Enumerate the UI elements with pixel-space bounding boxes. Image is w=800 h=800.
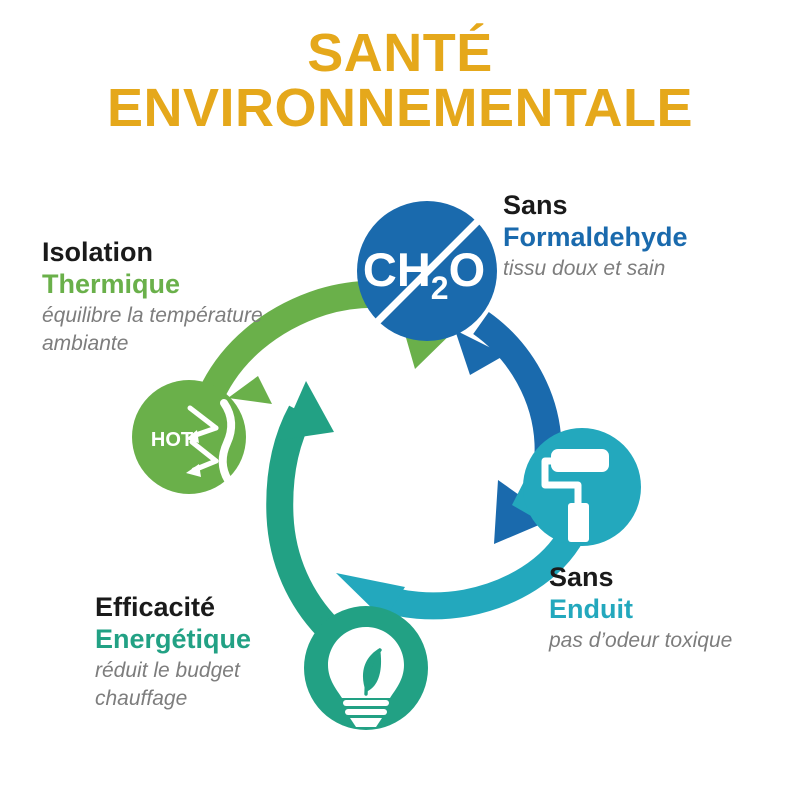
node-enduit[interactable]	[512, 428, 641, 546]
callout-efficacite-heading: Efficacité	[95, 592, 251, 624]
callout-enduit-subheading: Enduit	[549, 594, 732, 626]
arrow-teal	[280, 381, 334, 630]
callout-isolation-description-line-2: ambiante	[42, 331, 263, 357]
callout-enduit: Sans Enduit pas d’odeur toxique	[549, 562, 732, 654]
callout-formaldehyde-description: tissu doux et sain	[503, 256, 688, 282]
callout-isolation-heading: Isolation	[42, 237, 263, 269]
callout-efficacite-subheading: Energétique	[95, 624, 251, 656]
callout-enduit-description: pas d’odeur toxique	[549, 628, 732, 654]
callout-efficacite-description-line-1: réduit le budget	[95, 658, 251, 684]
node-isolation[interactable]: HOT	[132, 376, 272, 494]
callout-formaldehyde-subheading: Formaldehyde	[503, 222, 688, 254]
callout-isolation-subheading: Thermique	[42, 269, 263, 301]
callout-efficacite: Efficacité Energétique réduit le budget …	[95, 592, 251, 712]
callout-isolation-description-line-1: équilibre la température	[42, 303, 263, 329]
callout-formaldehyde: Sans Formaldehyde tissu doux et sain	[503, 190, 688, 282]
callout-efficacite-description-line-2: chauffage	[95, 686, 251, 712]
callout-formaldehyde-heading: Sans	[503, 190, 688, 222]
callout-isolation: Isolation Thermique équilibre la tempéra…	[42, 237, 263, 357]
hot-label: HOT	[151, 429, 193, 451]
cycle-diagram: CH2O	[0, 0, 800, 800]
callout-enduit-heading: Sans	[549, 562, 732, 594]
node-efficacite[interactable]	[304, 606, 428, 730]
